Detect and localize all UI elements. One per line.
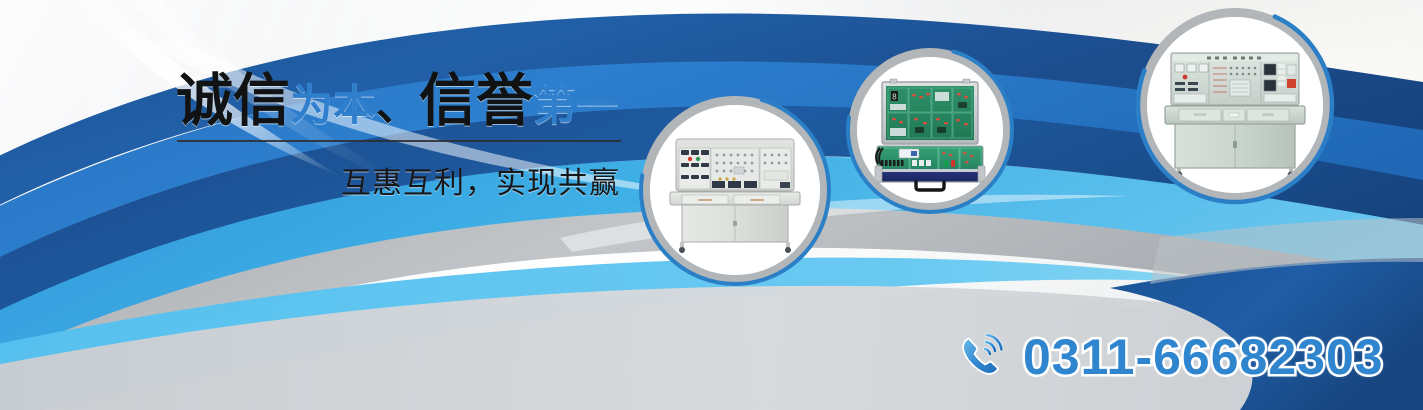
- svg-text:8: 8: [892, 93, 897, 102]
- title-divider: [177, 140, 621, 142]
- product-circle-2[interactable]: 8: [857, 57, 1003, 203]
- product-circle-1[interactable]: [650, 105, 820, 275]
- headline-part-1: 诚信: [176, 69, 290, 133]
- phone-number[interactable]: 0311-66682303: [1023, 328, 1384, 386]
- product-image-workbench: [650, 105, 820, 275]
- phone-call-icon: [955, 330, 1009, 384]
- page-title: 诚信为本、信誉第一: [176, 72, 624, 131]
- headline-part-4: 第一: [533, 82, 619, 130]
- product-circle-3[interactable]: [1147, 17, 1323, 193]
- product-image-lab-case: 8: [857, 57, 1003, 203]
- headline-part-3: 信誉: [419, 69, 533, 133]
- headline-part-2: 为本: [290, 82, 376, 130]
- contact-block[interactable]: 0311-66682303: [955, 328, 1384, 386]
- product-image-test-bench: [1147, 17, 1323, 193]
- promo-banner: 诚信为本、信誉第一 互惠互利，实现共赢: [0, 0, 1423, 410]
- headline-block: 诚信为本、信誉第一 互惠互利，实现共赢: [176, 72, 624, 202]
- subtitle: 互惠互利，实现共赢: [176, 158, 620, 202]
- headline-separator: 、: [376, 82, 419, 130]
